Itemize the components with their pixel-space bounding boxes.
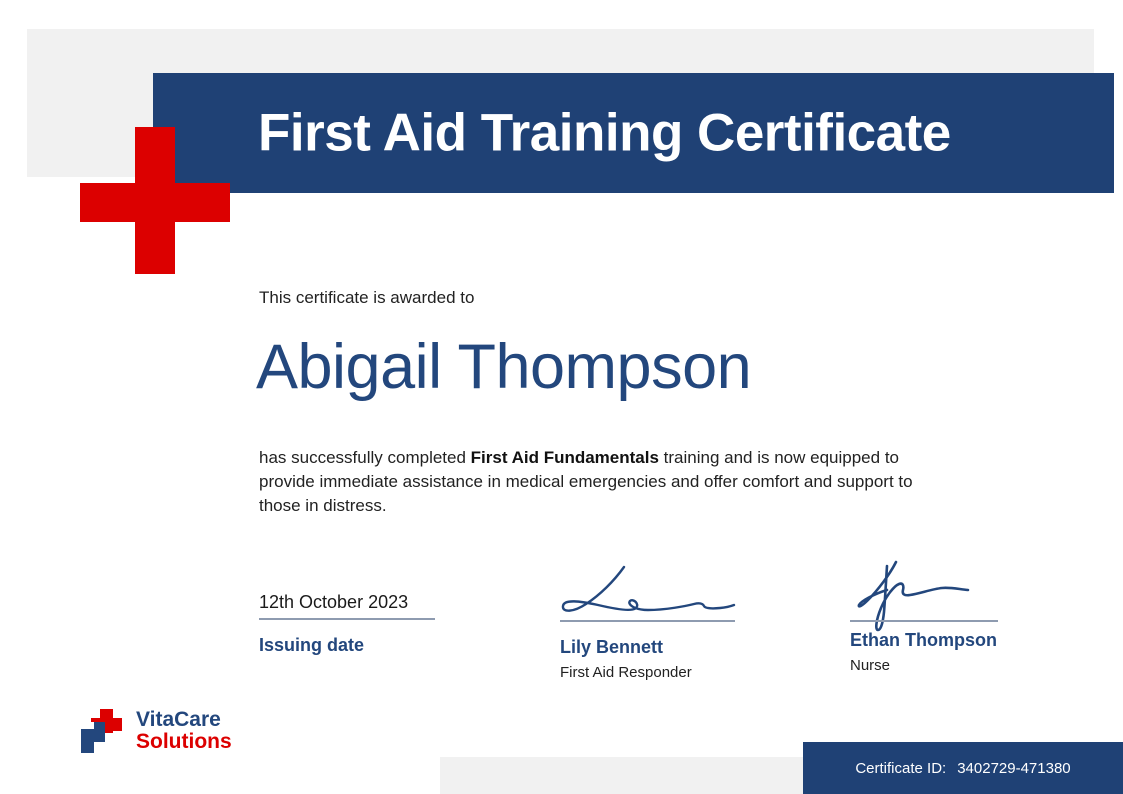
page-title: First Aid Training Certificate (258, 103, 951, 164)
certificate-id-bar: Certificate ID: 3402729-471380 (803, 742, 1123, 794)
recipient-name: Abigail Thompson (256, 331, 751, 403)
logo-line-two: Solutions (136, 731, 232, 753)
logo-cross-shapes (80, 709, 127, 753)
issuing-date-label: Issuing date (259, 635, 435, 656)
signature-rule (850, 620, 998, 622)
header-bar: First Aid Training Certificate (153, 73, 1114, 193)
description-before: has successfully completed (259, 448, 471, 467)
signature-stroke (854, 558, 1004, 638)
bottom-accent-panel (440, 757, 840, 794)
signature-block-lily-bennett: Lily Bennett First Aid Responder (560, 570, 735, 681)
double-medical-cross-icon (80, 709, 127, 753)
signatory-name: Ethan Thompson (850, 630, 998, 651)
handwritten-signature-icon (850, 570, 998, 620)
cross-horizontal-bar (80, 183, 230, 222)
signature-block-ethan-thompson: Ethan Thompson Nurse (850, 570, 998, 674)
signatory-role: First Aid Responder (560, 664, 735, 681)
awarded-label: This certificate is awarded to (259, 288, 474, 308)
logo-wordmark: VitaCare Solutions (136, 709, 232, 753)
description-text: has successfully completed First Aid Fun… (259, 446, 939, 518)
certificate-id-label: Certificate ID: (855, 760, 946, 777)
red-medical-cross-icon (80, 127, 230, 274)
issuing-date-rule (259, 618, 435, 620)
signature-stroke (560, 565, 738, 625)
certificate-id-value: 3402729-471380 (957, 760, 1070, 777)
signatory-role: Nurse (850, 657, 998, 674)
logo-line-one: VitaCare (136, 709, 232, 731)
description-highlight: First Aid Fundamentals (471, 448, 659, 467)
issuing-date-block: 12th October 2023 Issuing date (259, 592, 435, 656)
signatory-name: Lily Bennett (560, 637, 735, 658)
issuing-date-value: 12th October 2023 (259, 592, 435, 618)
handwritten-signature-icon (560, 570, 735, 620)
certificate-document: First Aid Training Certificate This cert… (0, 0, 1123, 794)
brand-logo: VitaCare Solutions (80, 709, 232, 753)
